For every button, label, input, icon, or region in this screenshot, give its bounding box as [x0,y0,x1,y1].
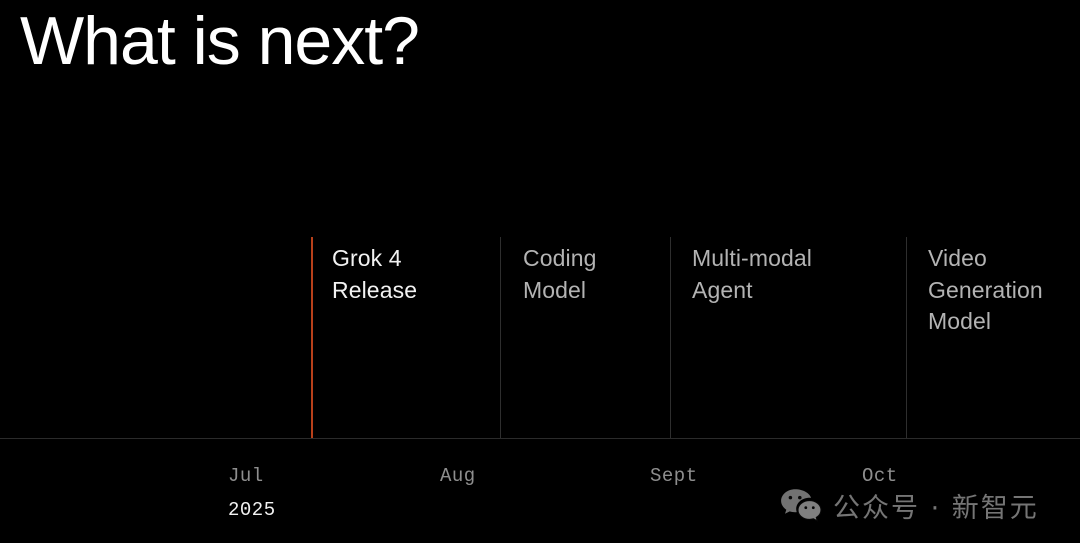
timeline-milestone-label: Video Generation Model [928,243,1043,338]
timeline-milestone-label: Coding Model [523,243,597,306]
presentation-slide: What is next? Grok 4 Release Coding Mode… [0,0,1080,543]
watermark-text: 公众号 · 新智元 [833,486,1039,525]
timeline-divider [906,237,907,438]
wechat-icon [780,488,822,522]
timeline-month-sept: Sept [650,465,698,487]
timeline-divider [670,237,671,438]
timeline-year: 2025 [228,499,276,521]
timeline-divider [500,237,501,438]
page-title: What is next? [20,4,419,79]
timeline-month-jul: Jul [228,465,264,487]
timeline-baseline [0,438,1080,439]
timeline-month-aug: Aug [440,465,476,487]
wechat-watermark: 公众号 · 新智元 [780,483,1039,527]
timeline-milestone-label: Multi-modal Agent [692,243,812,306]
timeline-divider-current [311,237,313,438]
timeline-milestone-label: Grok 4 Release [332,243,417,306]
